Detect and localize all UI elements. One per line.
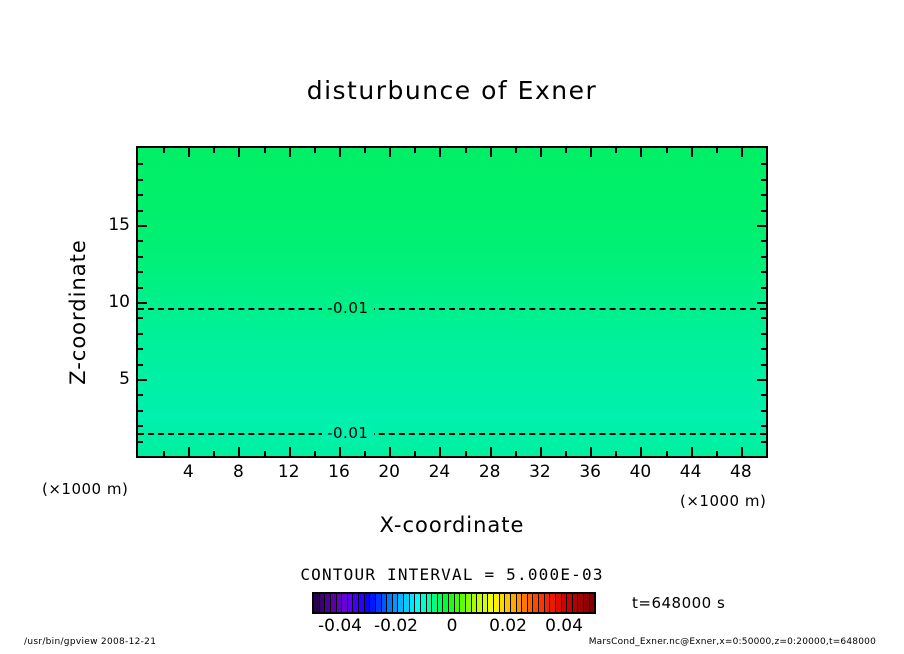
axis-tick bbox=[741, 148, 743, 157]
axis-tick bbox=[761, 210, 766, 212]
axis-tick bbox=[389, 447, 391, 456]
footer-dataset-text: MarsCond_Exner.nc@Exner,x=0:50000,z=0:20… bbox=[589, 637, 876, 647]
axis-tick bbox=[666, 148, 668, 153]
axis-tick bbox=[761, 179, 766, 181]
axis-tick bbox=[465, 148, 467, 153]
x-tick-label: 20 bbox=[378, 462, 400, 482]
axis-tick bbox=[490, 148, 492, 157]
x-tick-label: 32 bbox=[529, 462, 551, 482]
footer-command-text: /usr/bin/gpview 2008-12-21 bbox=[24, 637, 156, 647]
axis-tick bbox=[757, 379, 766, 381]
axis-tick bbox=[761, 317, 766, 319]
axis-tick bbox=[138, 179, 143, 181]
axis-tick bbox=[590, 148, 592, 157]
axis-tick bbox=[213, 148, 215, 153]
axis-tick bbox=[761, 256, 766, 258]
axis-tick bbox=[339, 447, 341, 456]
axis-tick bbox=[264, 451, 266, 456]
axis-tick bbox=[565, 148, 567, 153]
x-axis-tick-labels: 4812162024283236404448 bbox=[136, 462, 768, 488]
z-axis-unit-label: (×1000 m) bbox=[42, 480, 128, 498]
axis-tick bbox=[138, 317, 143, 319]
axis-tick bbox=[138, 410, 143, 412]
axis-tick bbox=[666, 451, 668, 456]
y-axis-tick-labels: 51015 bbox=[96, 146, 130, 458]
axis-tick bbox=[615, 451, 617, 456]
y-tick-label: 5 bbox=[119, 369, 130, 389]
x-axis-label: X-coordinate bbox=[136, 513, 768, 537]
axis-tick bbox=[289, 148, 291, 157]
axis-tick bbox=[761, 425, 766, 427]
axis-tick bbox=[213, 451, 215, 456]
colorbar-tick-label: 0.04 bbox=[545, 616, 583, 636]
axis-tick bbox=[716, 451, 718, 456]
x-tick-label: 48 bbox=[730, 462, 752, 482]
axis-tick bbox=[615, 148, 617, 153]
axis-tick bbox=[465, 451, 467, 456]
axis-tick bbox=[691, 447, 693, 456]
axis-tick bbox=[138, 333, 143, 335]
axis-tick bbox=[761, 333, 766, 335]
axis-tick bbox=[238, 148, 240, 157]
axis-tick bbox=[540, 148, 542, 157]
contour-interval-text: CONTOUR INTERVAL = 5.000E-03 bbox=[0, 565, 904, 584]
axis-tick bbox=[364, 451, 366, 456]
x-tick-label: 36 bbox=[579, 462, 601, 482]
axis-tick bbox=[138, 240, 143, 242]
colorbar-tick-label: 0.02 bbox=[489, 616, 527, 636]
axis-tick bbox=[761, 287, 766, 289]
axis-tick bbox=[138, 364, 143, 366]
axis-tick bbox=[364, 148, 366, 153]
axis-tick bbox=[138, 425, 143, 427]
axis-tick bbox=[590, 447, 592, 456]
axis-tick bbox=[761, 441, 766, 443]
plot-area: -0.01-0.01 bbox=[136, 146, 768, 458]
axis-tick bbox=[761, 271, 766, 273]
axis-tick bbox=[766, 451, 768, 456]
x-axis-unit-label: (×1000 m) bbox=[680, 492, 766, 510]
axis-tick bbox=[515, 148, 517, 153]
axis-tick bbox=[138, 348, 143, 350]
x-tick-label: 24 bbox=[429, 462, 451, 482]
axis-tick bbox=[138, 163, 143, 165]
contour-label: -0.01 bbox=[327, 424, 368, 442]
axis-tick bbox=[565, 451, 567, 456]
axis-tick bbox=[138, 441, 143, 443]
axis-tick bbox=[439, 148, 441, 157]
axis-tick bbox=[264, 148, 266, 153]
colorbar-tick-label: 0 bbox=[447, 616, 458, 636]
axis-tick bbox=[238, 447, 240, 456]
axis-tick bbox=[691, 148, 693, 157]
axis-tick bbox=[339, 148, 341, 157]
axis-tick bbox=[289, 447, 291, 456]
axis-tick bbox=[138, 271, 143, 273]
axis-tick bbox=[761, 194, 766, 196]
y-tick-label: 15 bbox=[108, 215, 130, 235]
axis-tick bbox=[766, 148, 768, 153]
axis-tick bbox=[761, 364, 766, 366]
axis-tick bbox=[138, 379, 147, 381]
x-tick-label: 40 bbox=[630, 462, 652, 482]
colorbar-tick-label: -0.04 bbox=[318, 616, 362, 636]
axis-tick bbox=[640, 447, 642, 456]
y-tick-label: 10 bbox=[108, 292, 130, 312]
time-annotation: t=648000 s bbox=[632, 594, 725, 612]
axis-tick bbox=[490, 447, 492, 456]
axis-tick bbox=[163, 148, 165, 153]
axis-tick bbox=[138, 287, 143, 289]
axis-tick bbox=[761, 348, 766, 350]
contour-line bbox=[138, 308, 766, 310]
colorbar-tick-label: -0.02 bbox=[374, 616, 418, 636]
axis-tick bbox=[414, 451, 416, 456]
colorbar-tick-labels: -0.04-0.0200.020.04 bbox=[292, 616, 612, 638]
axis-tick bbox=[757, 225, 766, 227]
axis-tick bbox=[138, 210, 143, 212]
x-tick-label: 4 bbox=[183, 462, 194, 482]
axis-tick bbox=[761, 240, 766, 242]
axis-tick bbox=[188, 447, 190, 456]
colorbar bbox=[312, 592, 596, 614]
axis-tick bbox=[540, 447, 542, 456]
x-tick-label: 44 bbox=[680, 462, 702, 482]
axis-tick bbox=[389, 148, 391, 157]
axis-tick bbox=[761, 394, 766, 396]
axis-tick bbox=[138, 194, 143, 196]
axis-tick bbox=[138, 302, 147, 304]
axis-tick bbox=[188, 148, 190, 157]
contour-label: -0.01 bbox=[327, 299, 368, 317]
axis-tick bbox=[314, 451, 316, 456]
y-axis-label: Z-coordinate bbox=[66, 212, 90, 412]
axis-tick bbox=[439, 447, 441, 456]
axis-tick bbox=[757, 302, 766, 304]
x-tick-label: 28 bbox=[479, 462, 501, 482]
axis-tick bbox=[138, 225, 147, 227]
colorbar-swatch bbox=[590, 594, 595, 612]
page-title: disturbunce of Exner bbox=[0, 76, 904, 105]
x-tick-label: 8 bbox=[233, 462, 244, 482]
axis-tick bbox=[761, 163, 766, 165]
axis-tick bbox=[314, 148, 316, 153]
x-tick-label: 16 bbox=[328, 462, 350, 482]
contour-line bbox=[138, 433, 766, 435]
axis-tick bbox=[163, 451, 165, 456]
axis-tick bbox=[138, 256, 143, 258]
axis-tick bbox=[716, 148, 718, 153]
x-tick-label: 12 bbox=[278, 462, 300, 482]
axis-tick bbox=[515, 451, 517, 456]
axis-tick bbox=[414, 148, 416, 153]
axis-tick bbox=[761, 410, 766, 412]
axis-tick bbox=[138, 394, 143, 396]
axis-tick bbox=[741, 447, 743, 456]
axis-tick bbox=[640, 148, 642, 157]
contour-field bbox=[138, 148, 766, 456]
